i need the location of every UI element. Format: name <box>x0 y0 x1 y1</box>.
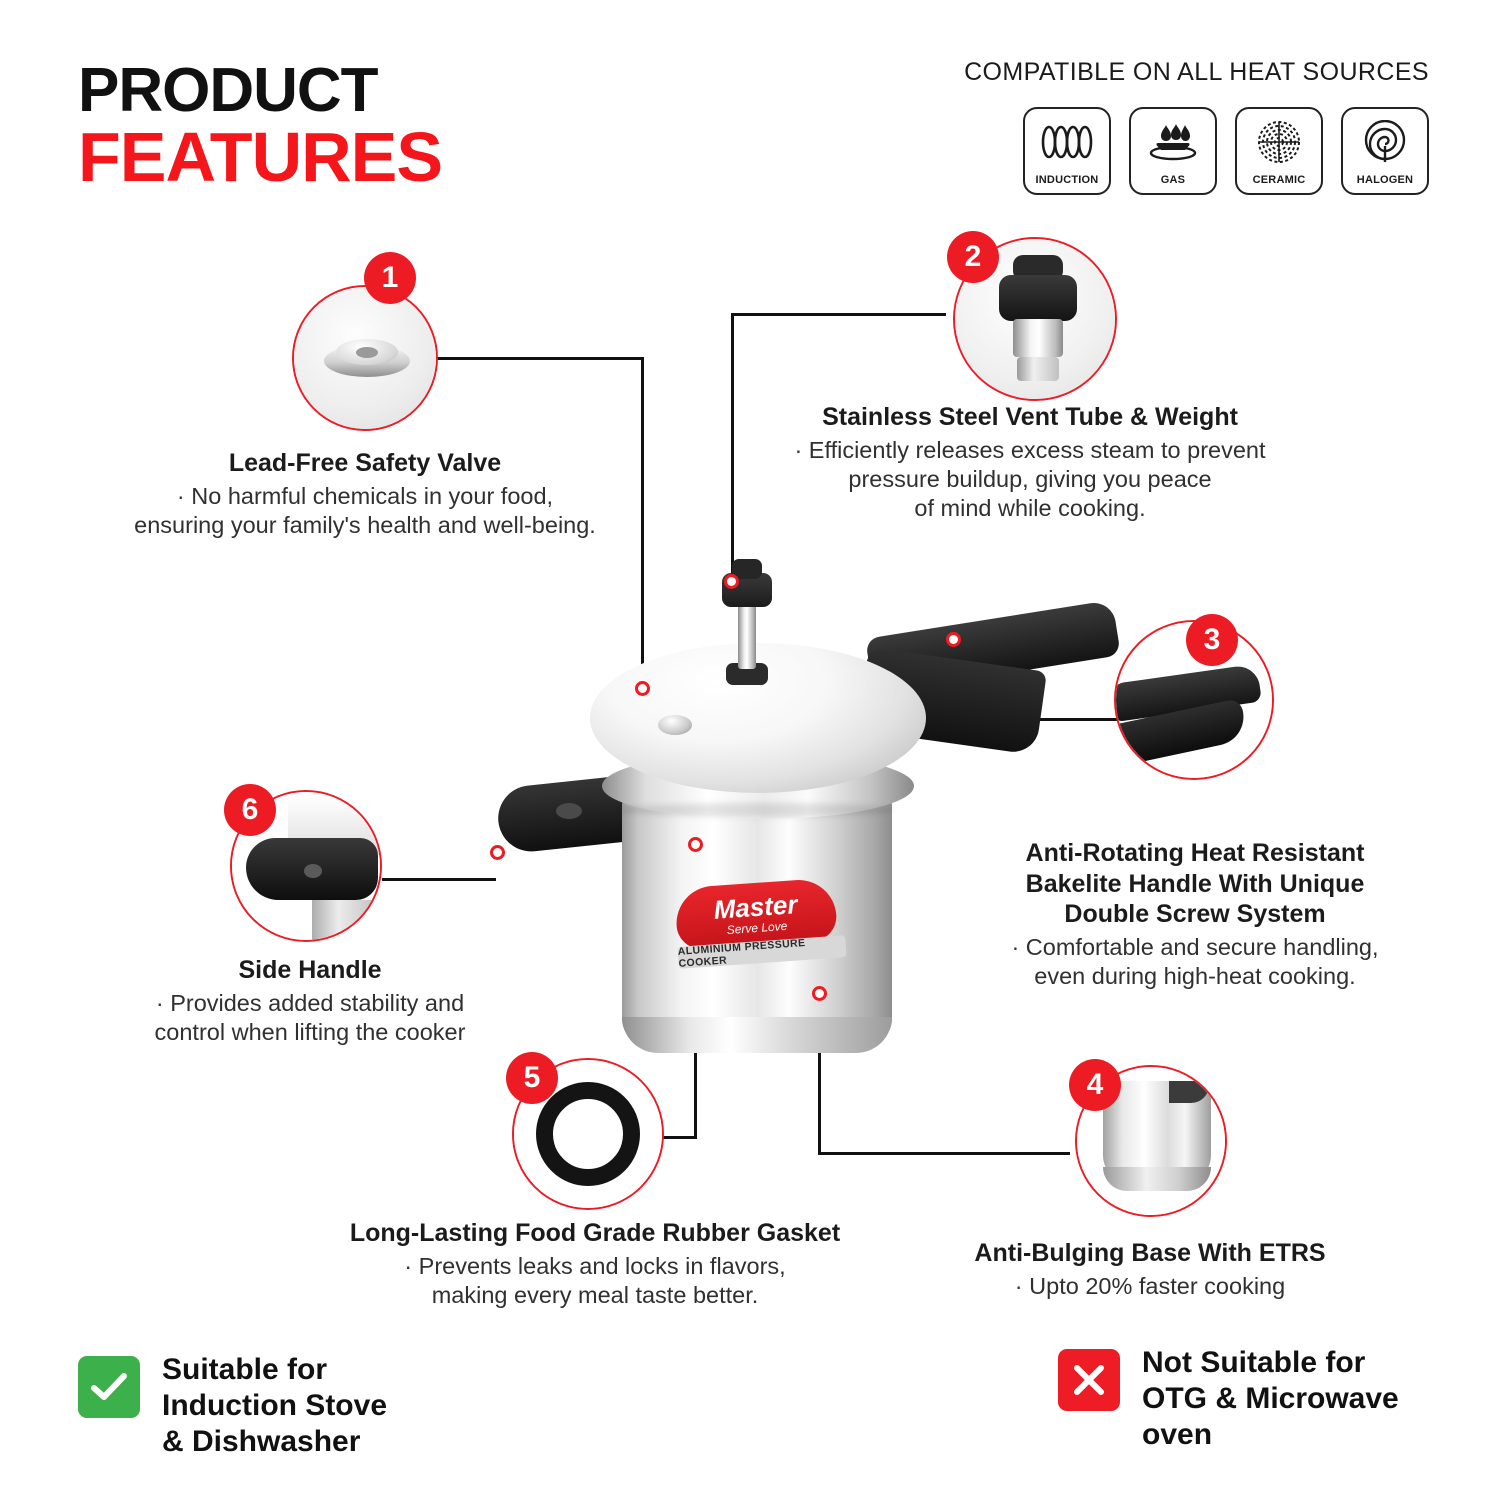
feature-text-3: Anti-Rotating Heat Resistant Bakelite Ha… <box>960 838 1430 991</box>
feature-number: 1 <box>382 261 399 295</box>
connector-line-5b <box>663 1136 697 1139</box>
safety-valve-part <box>658 715 692 735</box>
feature-badge-2: 2 <box>947 231 999 283</box>
page-title-line1: PRODUCT <box>78 62 442 119</box>
connector-line-4b <box>818 1152 1070 1155</box>
feature-desc-line: ensuring your family's health and well-b… <box>60 511 670 540</box>
heat-badge-label: CERAMIC <box>1253 174 1306 186</box>
halogen-spiral-icon <box>1343 109 1427 174</box>
heat-badge-label: INDUCTION <box>1036 174 1099 186</box>
feature-title: Anti-Rotating Heat Resistant Bakelite Ha… <box>960 838 1430 930</box>
suitable-line: & Dishwasher <box>162 1424 387 1460</box>
feature-desc-line: · No harmful chemicals in your food, <box>60 482 670 511</box>
feature-number: 5 <box>524 1061 541 1095</box>
heat-badge-gas: GAS <box>1129 107 1217 195</box>
feature-number: 4 <box>1087 1068 1104 1102</box>
ceramic-hob-icon <box>1237 109 1321 174</box>
feature-desc: · Comfortable and secure handling, even … <box>960 933 1430 991</box>
hotspot-dot-2 <box>724 574 739 589</box>
feature-number: 6 <box>242 793 259 827</box>
heat-badge-label: HALOGEN <box>1357 174 1413 186</box>
feature-desc-line: · Prevents leaks and locks in flavors, <box>285 1252 905 1281</box>
hotspot-dot-5 <box>688 837 703 852</box>
page-title: PRODUCT FEATURES <box>78 62 442 189</box>
check-mark-icon <box>78 1356 140 1418</box>
feature-badge-4: 4 <box>1069 1059 1121 1111</box>
cross-mark-icon <box>1058 1349 1120 1411</box>
hotspot-dot-4 <box>812 986 827 1001</box>
feature-title-line: Anti-Rotating Heat Resistant <box>960 838 1430 869</box>
feature-badge-5: 5 <box>506 1052 558 1104</box>
feature-desc: · Provides added stability and control w… <box>100 989 520 1047</box>
side-handle-screw <box>556 803 582 819</box>
lid-shadow <box>620 803 894 817</box>
feature-title: Stainless Steel Vent Tube & Weight <box>735 402 1325 433</box>
safety-valve-photo <box>294 287 436 429</box>
feature-badge-3: 3 <box>1186 614 1238 666</box>
heat-badge-label: GAS <box>1161 174 1185 186</box>
feature-desc-line: of mind while cooking. <box>735 494 1325 523</box>
feature-desc-line: · Efficiently releases excess steam to p… <box>735 436 1325 465</box>
feature-badge-6: 6 <box>224 784 276 836</box>
page-title-line2: FEATURES <box>78 125 442 189</box>
feature-desc: · Efficiently releases excess steam to p… <box>735 436 1325 523</box>
feature-text-2: Stainless Steel Vent Tube & Weight · Eff… <box>735 402 1325 523</box>
suitable-line: Induction Stove <box>162 1388 387 1424</box>
feature-desc-line: pressure buildup, giving you peace <box>735 465 1325 494</box>
not-suitable-line: OTG & Microwave <box>1142 1381 1399 1417</box>
feature-desc: · No harmful chemicals in your food, ens… <box>60 482 670 540</box>
callout-circle-1[interactable] <box>292 285 438 431</box>
feature-title: Side Handle <box>100 955 520 986</box>
not-suitable-line: Not Suitable for <box>1142 1345 1399 1381</box>
feature-desc-line: · Upto 20% faster cooking <box>930 1272 1370 1301</box>
heat-sources-row: INDUCTION GAS <box>1023 107 1429 195</box>
feature-desc-line: even during high-heat cooking. <box>960 962 1430 991</box>
cooker-base <box>622 1017 892 1053</box>
pressure-cooker-image: Master Serve Love ALUMINIUM PRESSURE COO… <box>470 555 1150 1085</box>
connector-line-2 <box>731 313 734 581</box>
suitable-text: Suitable for Induction Stove & Dishwashe… <box>162 1352 387 1460</box>
feature-badge-1: 1 <box>364 252 416 304</box>
heat-badge-halogen: HALOGEN <box>1341 107 1429 195</box>
gas-burner-icon <box>1131 109 1215 174</box>
feature-desc: · Prevents leaks and locks in flavors, m… <box>285 1252 905 1310</box>
feature-number: 2 <box>965 240 982 274</box>
feature-text-5: Long-Lasting Food Grade Rubber Gasket · … <box>285 1218 905 1310</box>
not-suitable-text: Not Suitable for OTG & Microwave oven <box>1142 1345 1399 1453</box>
feature-title: Long-Lasting Food Grade Rubber Gasket <box>285 1218 905 1249</box>
connector-line-2b <box>731 313 946 316</box>
feature-number: 3 <box>1204 623 1221 657</box>
infographic-canvas: PRODUCT FEATURES COMPATIBLE ON ALL HEAT … <box>0 0 1501 1501</box>
not-suitable-banner: Not Suitable for OTG & Microwave oven <box>1058 1345 1399 1453</box>
feature-desc: · Upto 20% faster cooking <box>930 1272 1370 1301</box>
hotspot-dot-1 <box>635 681 650 696</box>
connector-line-1 <box>436 357 644 360</box>
feature-desc-line: · Comfortable and secure handling, <box>960 933 1430 962</box>
heat-sources-heading: COMPATIBLE ON ALL HEAT SOURCES <box>964 58 1429 87</box>
brand-tagline: Serve Love <box>726 920 787 936</box>
feature-text-4: Anti-Bulging Base With ETRS · Upto 20% f… <box>930 1238 1370 1301</box>
feature-title: Lead-Free Safety Valve <box>60 448 670 479</box>
suitable-banner: Suitable for Induction Stove & Dishwashe… <box>78 1352 387 1460</box>
feature-title: Anti-Bulging Base With ETRS <box>930 1238 1370 1269</box>
feature-text-1: Lead-Free Safety Valve · No harmful chem… <box>60 448 670 540</box>
feature-desc-line: control when lifting the cooker <box>100 1018 520 1047</box>
hotspot-dot-6 <box>490 845 505 860</box>
feature-desc-line: making every meal taste better. <box>285 1281 905 1310</box>
not-suitable-line: oven <box>1142 1417 1399 1453</box>
suitable-line: Suitable for <box>162 1352 387 1388</box>
vent-tube-part <box>738 599 756 669</box>
hotspot-dot-3 <box>946 632 961 647</box>
heat-badge-ceramic: CERAMIC <box>1235 107 1323 195</box>
feature-title-line: Bakelite Handle With Unique <box>960 869 1430 900</box>
induction-coil-icon <box>1025 109 1109 174</box>
feature-title-line: Double Screw System <box>960 899 1430 930</box>
feature-desc-line: · Provides added stability and <box>100 989 520 1018</box>
heat-badge-induction: INDUCTION <box>1023 107 1111 195</box>
feature-text-6: Side Handle · Provides added stability a… <box>100 955 520 1047</box>
